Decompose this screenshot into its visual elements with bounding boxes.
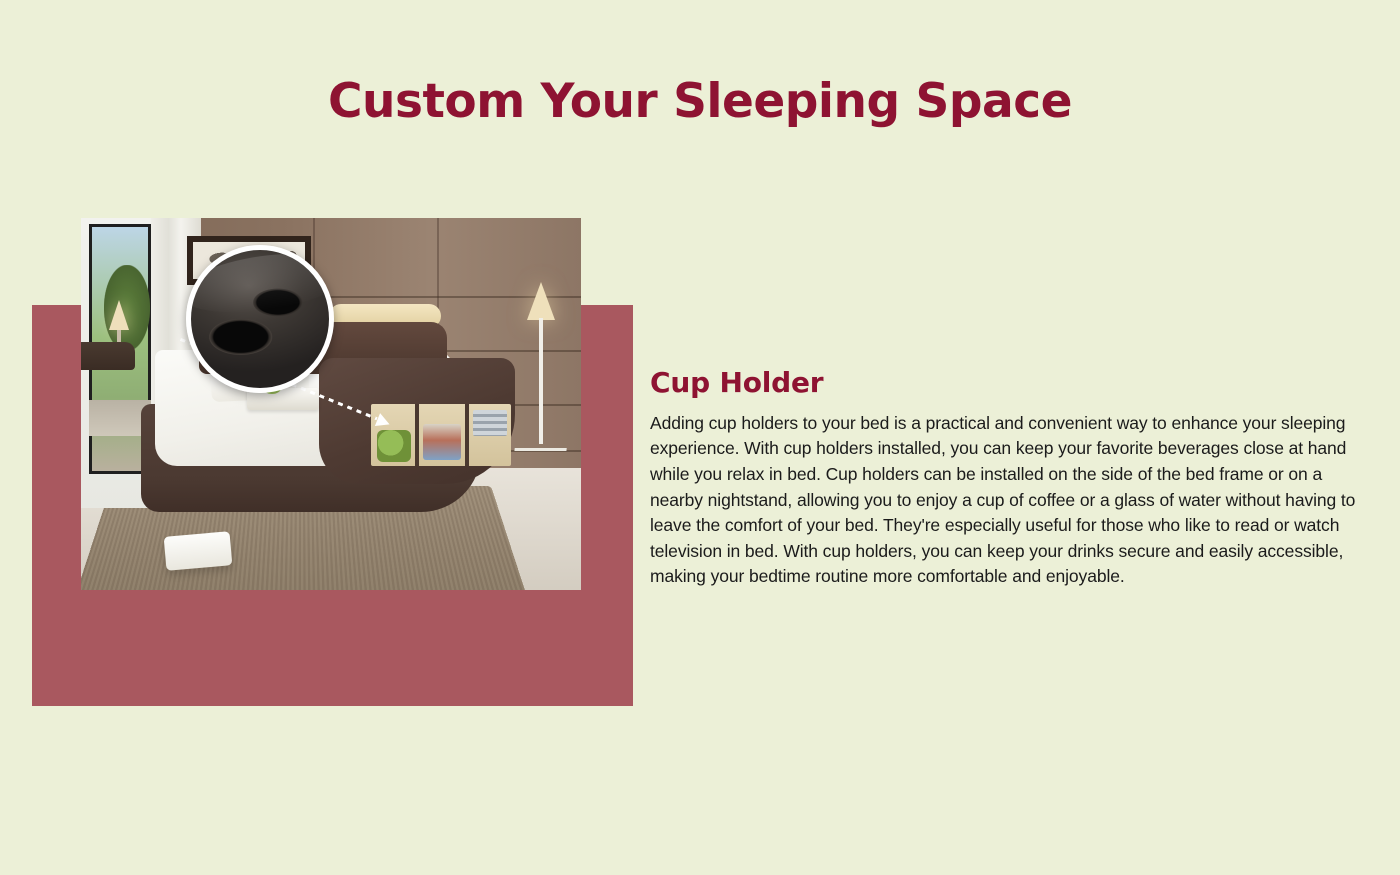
shelf-books [473,410,507,436]
page-title: Custom Your Sleeping Space [0,78,1400,125]
lamp-shade [109,300,129,330]
floor-lamp-base [514,440,567,451]
product-visual-block [32,218,633,706]
floor-cushion [164,531,233,571]
floor-lamp-shade [527,282,555,320]
shelf-plant [377,430,411,462]
floor-lamp-pole [539,318,543,444]
nightstand [81,342,135,370]
product-photo [81,218,581,590]
feature-description: Adding cup holders to your bed is a prac… [650,411,1356,590]
shelf-bottles [423,424,461,460]
feature-text-column: Cup Holder Adding cup holders to your be… [650,368,1356,590]
feature-heading: Cup Holder [650,368,1356,399]
cup-holder-zoom-inset [186,245,334,393]
